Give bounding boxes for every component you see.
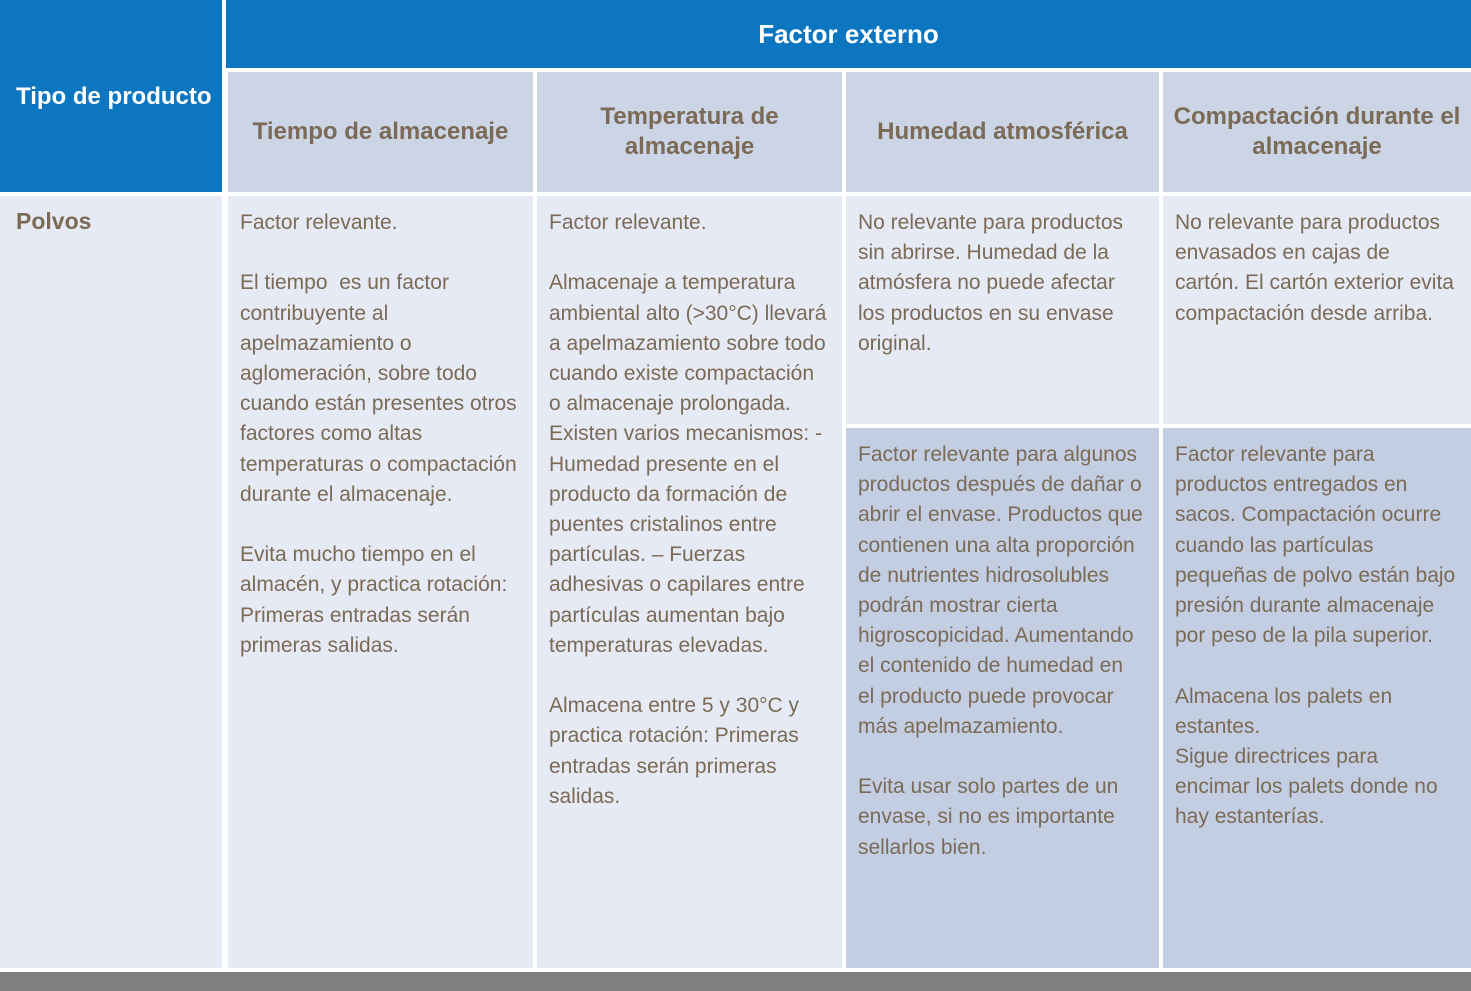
- corner-header-tipo-de-producto: Tipo de producto: [0, 0, 222, 192]
- factor-externo-table: Tipo de producto Factor externo Tiempo d…: [0, 0, 1471, 991]
- group-header-factor-externo: Factor externo: [226, 0, 1471, 68]
- column-header-tiempo-de-almacenaje: Tiempo de almacenaje: [228, 72, 533, 192]
- cell-polvos-compactacion-top: No relevante para productos envasados en…: [1163, 196, 1471, 424]
- cell-polvos-temperatura-de-almacenaje: Factor relevante. Almacenaje a temperatu…: [537, 196, 842, 968]
- cell-polvos-tiempo-de-almacenaje: Factor relevante. El tiempo es un factor…: [228, 196, 533, 968]
- cell-polvos-humedad-atmosferica-top: No relevante para productos sin abrirse.…: [846, 196, 1159, 424]
- column-header-humedad-atmosferica: Humedad atmosférica: [846, 72, 1159, 192]
- cell-polvos-compactacion-bottom: Factor relevante para productos entregad…: [1163, 428, 1471, 968]
- cell-polvos-humedad-atmosferica-bottom: Factor relevante para algunos productos …: [846, 428, 1159, 968]
- column-header-temperatura-de-almacenaje: Temperatura de almacenaje: [537, 72, 842, 192]
- row-label-polvos: Polvos: [0, 196, 222, 968]
- column-header-compactacion-durante-el-almacenaje: Compactación durante el almacenaje: [1163, 72, 1471, 192]
- bottom-bar: [0, 972, 1471, 991]
